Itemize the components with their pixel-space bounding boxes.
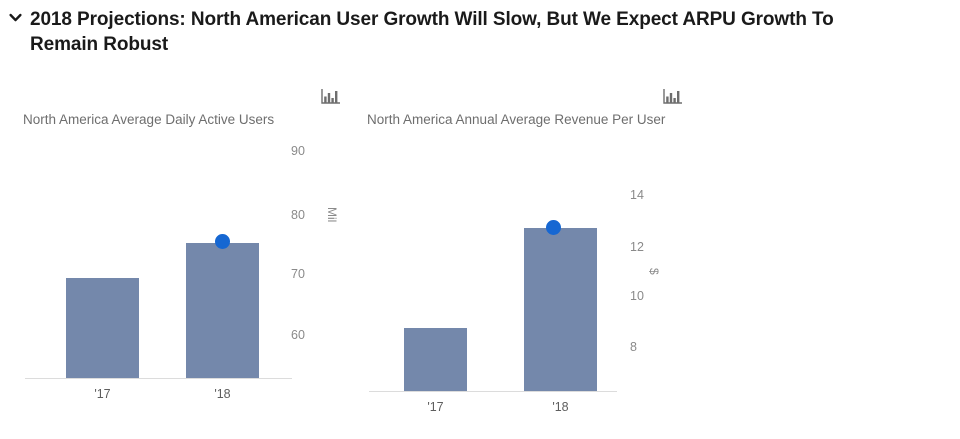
panel-header-left: North America Average Daily Active Users [14, 86, 354, 142]
collapse-toggle-button[interactable] [0, 7, 30, 25]
page-title: 2018 Projections: North American User Gr… [30, 7, 890, 58]
page-header: 2018 Projections: North American User Gr… [0, 0, 960, 58]
bar-2017-daily-active-users[interactable] [66, 278, 139, 378]
x-tick-label: '17 [404, 400, 467, 414]
x-tick-label: '18 [524, 400, 597, 414]
bar-2018-arpu[interactable] [524, 228, 597, 391]
y-axis-title-right: $ [647, 268, 661, 275]
y-tick-label: 80 [291, 208, 305, 222]
y-tick-label: 10 [630, 289, 644, 303]
chart-plot-area-left: 60 70 80 90 Mil '17 '18 [14, 142, 354, 392]
x-axis-line-right [369, 391, 617, 392]
panel-title-left: North America Average Daily Active Users [23, 110, 323, 131]
y-tick-label: 60 [291, 328, 305, 342]
y-tick-label: 12 [630, 240, 644, 254]
chevron-down-icon [8, 10, 23, 25]
bar-chart-icon[interactable] [320, 87, 342, 107]
chart-panel-arpu: North America Annual Average Revenue Per… [358, 86, 698, 392]
panel-title-right: North America Annual Average Revenue Per… [367, 110, 667, 131]
x-axis-line-left [25, 378, 292, 379]
chart-plot-area-right: 8 10 12 14 $ '17 '18 [358, 142, 698, 392]
y-axis-title-left: Mil [325, 207, 339, 222]
projection-marker-dot-left[interactable] [215, 234, 230, 249]
y-tick-label: 8 [630, 340, 637, 354]
x-tick-label: '17 [66, 387, 139, 401]
panel-header-right: North America Annual Average Revenue Per… [358, 86, 698, 142]
bar-2018-daily-active-users[interactable] [186, 243, 259, 378]
chart-panel-daily-active-users: North America Average Daily Active Users… [14, 86, 354, 392]
y-tick-label: 14 [630, 188, 644, 202]
y-tick-label: 90 [291, 144, 305, 158]
bar-2017-arpu[interactable] [404, 328, 467, 391]
y-tick-label: 70 [291, 267, 305, 281]
bar-chart-icon[interactable] [662, 87, 684, 107]
projection-marker-dot-right[interactable] [546, 220, 561, 235]
x-tick-label: '18 [186, 387, 259, 401]
